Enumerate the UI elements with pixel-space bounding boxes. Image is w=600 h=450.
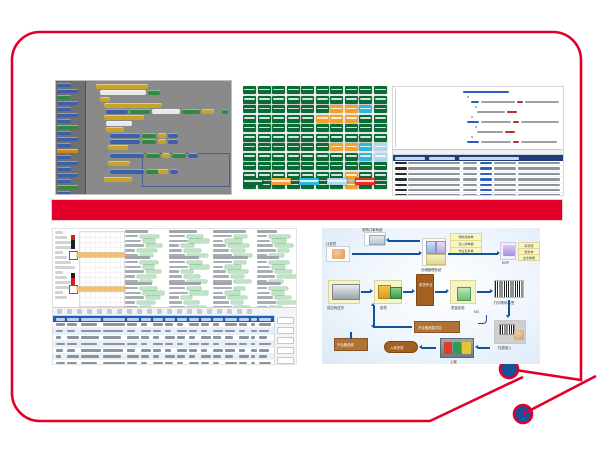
seat-cell-r4-c9[interactable] <box>359 115 372 123</box>
form-field-row[interactable] <box>125 244 165 247</box>
form-field-value[interactable] <box>231 275 244 278</box>
form-field-row[interactable] <box>125 287 165 290</box>
canvas-block-31[interactable] <box>158 169 168 174</box>
palette-block-13[interactable] <box>57 155 71 159</box>
canvas-block-28[interactable] <box>108 161 130 166</box>
seat-cell-r7-c5[interactable] <box>301 143 314 151</box>
table-toolbar-icon-10[interactable] <box>147 309 152 314</box>
canvas-block-6[interactable] <box>106 109 128 114</box>
palette-block-16[interactable] <box>57 173 78 177</box>
form-field-row[interactable] <box>169 270 209 273</box>
seat-cell-r3-c1[interactable] <box>243 105 256 113</box>
seat-cell-r2-c9[interactable] <box>359 96 372 104</box>
flow-node-label-scan[interactable] <box>494 320 526 344</box>
canvas-block-21[interactable] <box>168 139 178 144</box>
flow-node-supplier-delivery[interactable] <box>328 280 360 304</box>
seat-cell-r1-c1[interactable] <box>243 86 256 94</box>
table-column-header-15[interactable] <box>251 318 257 321</box>
form-field-value[interactable] <box>269 235 290 238</box>
form-field-row[interactable] <box>125 249 165 252</box>
table-column-header-10[interactable] <box>189 318 199 321</box>
form-field-value[interactable] <box>278 249 289 252</box>
form-field-row[interactable] <box>257 287 297 290</box>
palette-block-1[interactable] <box>57 83 71 87</box>
canvas-block-14[interactable] <box>110 133 140 138</box>
form-field-row[interactable] <box>125 239 165 242</box>
form-field-value[interactable] <box>146 270 161 273</box>
sheet-rail-item-6[interactable] <box>55 256 67 259</box>
form-field-row[interactable] <box>125 275 165 278</box>
form-field-value[interactable] <box>181 270 193 273</box>
seat-cell-r1-c3[interactable] <box>272 86 285 94</box>
flow-node-order-system[interactable] <box>364 232 386 246</box>
palette-block-11[interactable] <box>57 143 71 147</box>
palette-block-9[interactable] <box>57 131 71 135</box>
seat-cell-r5-c5[interactable] <box>301 124 314 132</box>
flow-node-planner[interactable] <box>326 246 350 262</box>
seat-cell-r7-c2[interactable] <box>258 143 271 151</box>
table-side-button-5[interactable] <box>277 357 294 364</box>
seat-cell-r1-c4[interactable] <box>287 86 300 94</box>
table-toolbar-icon-2[interactable] <box>67 309 72 314</box>
seat-cell-r7-c4[interactable] <box>287 143 300 151</box>
seat-cell-r3-c8[interactable] <box>345 105 358 113</box>
table-toolbar-icon-8[interactable] <box>127 309 132 314</box>
form-group-8[interactable] <box>257 256 297 285</box>
seat-cell-r6-c8[interactable] <box>345 134 358 142</box>
flow-node-shelving[interactable] <box>440 338 474 358</box>
seat-cell-r9-c8[interactable] <box>345 162 358 170</box>
seat-cell-r10-c10[interactable] <box>374 172 387 180</box>
form-field-value[interactable] <box>272 239 286 242</box>
table-column-header-5[interactable] <box>127 318 139 321</box>
form-field-row[interactable] <box>125 235 165 238</box>
seat-cell-r8-c3[interactable] <box>272 153 285 161</box>
form-field-value[interactable] <box>187 261 202 264</box>
seat-cell-r5-c1[interactable] <box>243 124 256 132</box>
seat-cell-r1-c10[interactable] <box>374 86 387 94</box>
palette-block-8[interactable] <box>57 125 78 129</box>
canvas-block-24[interactable] <box>146 153 160 158</box>
canvas-block-34[interactable] <box>222 109 228 114</box>
seat-cell-r6-c2[interactable] <box>258 134 271 142</box>
seat-cell-r7-c10[interactable] <box>374 143 387 151</box>
table-side-button-3[interactable] <box>277 337 294 344</box>
seat-cell-r6-c4[interactable] <box>287 134 300 142</box>
seat-cell-r5-c3[interactable] <box>272 124 285 132</box>
form-field-value[interactable] <box>181 296 192 299</box>
form-field-row[interactable] <box>169 291 209 294</box>
seat-cell-r11-c10[interactable] <box>374 181 387 189</box>
canvas-block-19[interactable] <box>142 139 156 144</box>
sheet-rail-item-14[interactable] <box>55 296 67 299</box>
sheet-rail-item-2[interactable] <box>55 236 67 239</box>
table-column-header-2[interactable] <box>67 318 79 321</box>
table-toolbar-icon-12[interactable] <box>167 309 172 314</box>
form-group-4[interactable] <box>257 230 297 259</box>
form-field-row[interactable] <box>125 265 165 268</box>
seat-cell-r4-c2[interactable] <box>258 115 271 123</box>
table-toolbar-icon-1[interactable] <box>57 309 62 314</box>
form-field-value[interactable] <box>190 291 208 294</box>
seat-cell-r8-c2[interactable] <box>258 153 271 161</box>
form-field-value[interactable] <box>272 291 284 294</box>
seat-cell-r7-c3[interactable] <box>272 143 285 151</box>
palette-block-3[interactable] <box>57 95 71 99</box>
form-field-row[interactable] <box>169 249 209 252</box>
canvas-block-8[interactable] <box>152 109 180 114</box>
seat-cell-r4-c6[interactable] <box>316 115 329 123</box>
seat-cell-r5-c4[interactable] <box>287 124 300 132</box>
form-field-value[interactable] <box>225 291 240 294</box>
seat-cell-r8-c8[interactable] <box>345 153 358 161</box>
seat-cell-r7-c6[interactable] <box>316 143 329 151</box>
table-toolbar-icon-6[interactable] <box>107 309 112 314</box>
form-field-row[interactable] <box>213 261 253 264</box>
palette-block-14[interactable] <box>57 161 78 165</box>
seat-cell-r5-c9[interactable] <box>359 124 372 132</box>
form-field-value[interactable] <box>187 235 203 238</box>
seat-cell-r5-c6[interactable] <box>316 124 329 132</box>
sheet-rail-item-8[interactable] <box>55 266 75 269</box>
form-field-row[interactable] <box>125 296 165 299</box>
table-toolbar-icon-5[interactable] <box>97 309 102 314</box>
form-field-value[interactable] <box>275 296 291 299</box>
sheet-upper-area[interactable] <box>53 229 296 307</box>
palette-block-18[interactable] <box>57 185 78 189</box>
form-field-row[interactable] <box>213 287 253 290</box>
form-field-value[interactable] <box>231 301 243 304</box>
form-field-value[interactable] <box>143 265 154 268</box>
table-toolbar-icon-9[interactable] <box>137 309 142 314</box>
form-group-5[interactable] <box>125 256 165 285</box>
seat-cell-r2-c5[interactable] <box>301 96 314 104</box>
table-column-header-9[interactable] <box>177 318 187 321</box>
sheet-rail-item-5[interactable] <box>55 251 63 254</box>
form-field-row[interactable] <box>257 244 297 247</box>
flow-node-wms[interactable] <box>422 238 446 266</box>
form-field-row[interactable] <box>257 270 297 273</box>
form-field-value[interactable] <box>184 249 201 252</box>
seat-cell-r1-c8[interactable] <box>345 86 358 94</box>
form-field-value[interactable] <box>277 301 297 304</box>
seat-cell-r9-c6[interactable] <box>316 162 329 170</box>
seat-cell-r4-c7[interactable] <box>330 115 343 123</box>
seat-cell-r8-c10[interactable] <box>374 153 387 161</box>
block-canvas[interactable] <box>86 81 231 194</box>
form-group-7[interactable] <box>213 256 253 285</box>
sheet-form-zone[interactable] <box>125 230 295 306</box>
seat-cell-r3-c10[interactable] <box>374 105 387 113</box>
canvas-block-4[interactable] <box>100 97 110 102</box>
form-field-row[interactable] <box>213 244 253 247</box>
form-field-row[interactable] <box>257 235 297 238</box>
seat-cell-r4-c1[interactable] <box>243 115 256 123</box>
seat-cell-r6-c5[interactable] <box>301 134 314 142</box>
log-col-header-1[interactable] <box>395 157 425 160</box>
seat-cell-r2-c1[interactable] <box>243 96 256 104</box>
seat-cell-r5-c2[interactable] <box>258 124 271 132</box>
seat-cell-r2-c8[interactable] <box>345 96 358 104</box>
seat-cell-r2-c3[interactable] <box>272 96 285 104</box>
seat-cell-r1-c7[interactable] <box>330 86 343 94</box>
sheet-rail-item-11[interactable] <box>55 281 71 284</box>
form-field-value[interactable] <box>137 301 155 304</box>
form-field-value[interactable] <box>225 239 242 242</box>
seat-cell-r3-c2[interactable] <box>258 105 271 113</box>
table-column-header-14[interactable] <box>239 318 249 321</box>
seat-cell-r9-c1[interactable] <box>243 162 256 170</box>
seat-cell-r9-c7[interactable] <box>330 162 343 170</box>
sheet-grid[interactable] <box>79 231 125 307</box>
form-field-value[interactable] <box>140 261 158 264</box>
palette-block-2[interactable] <box>57 89 78 93</box>
form-field-value[interactable] <box>275 244 293 247</box>
canvas-block-9[interactable] <box>182 109 200 114</box>
seat-cell-r4-c10[interactable] <box>374 115 387 123</box>
panel-spreadsheet[interactable] <box>52 228 297 365</box>
seat-cell-r3-c5[interactable] <box>301 105 314 113</box>
canvas-block-26[interactable] <box>172 153 186 158</box>
form-field-row[interactable] <box>169 296 209 299</box>
table-toolbar-icon-13[interactable] <box>177 309 182 314</box>
seat-cell-r9-c10[interactable] <box>374 162 387 170</box>
form-field-row[interactable] <box>169 275 209 278</box>
log-row[interactable] <box>393 193 563 196</box>
canvas-block-18[interactable] <box>110 139 140 144</box>
table-row[interactable] <box>53 360 296 365</box>
table-column-header-3[interactable] <box>81 318 101 321</box>
form-field-row[interactable] <box>169 244 209 247</box>
form-field-row[interactable] <box>169 261 209 264</box>
table-toolbar-icon-17[interactable] <box>217 309 222 314</box>
table-column-header-11[interactable] <box>201 318 211 321</box>
seat-cell-r5-c10[interactable] <box>374 124 387 132</box>
seat-cell-r9-c4[interactable] <box>287 162 300 170</box>
form-field-row[interactable] <box>213 301 253 304</box>
seat-cell-r6-c3[interactable] <box>272 134 285 142</box>
block-palette[interactable] <box>56 81 86 194</box>
seat-cell-r6-c7[interactable] <box>330 134 343 142</box>
seat-cell-r9-c9[interactable] <box>359 162 372 170</box>
form-field-row[interactable] <box>213 275 253 278</box>
sheet-rail-item-3[interactable] <box>55 241 71 244</box>
sheet-data-table[interactable] <box>53 307 296 365</box>
form-field-value[interactable] <box>272 265 285 268</box>
seat-cell-r6-c1[interactable] <box>243 134 256 142</box>
table-toolbar-icon-11[interactable] <box>157 309 162 314</box>
table-column-header-12[interactable] <box>213 318 223 321</box>
canvas-block-27[interactable] <box>188 153 198 158</box>
seat-cell-r2-c7[interactable] <box>330 96 343 104</box>
seat-cell-r8-c1[interactable] <box>243 153 256 161</box>
palette-block-7[interactable] <box>57 119 71 123</box>
canvas-block-10[interactable] <box>202 109 214 114</box>
table-toolbar[interactable] <box>53 308 296 316</box>
form-field-row[interactable] <box>257 249 297 252</box>
seat-cell-r8-c7[interactable] <box>330 153 343 161</box>
table-toolbar-icon-20[interactable] <box>247 309 252 314</box>
canvas-block-29[interactable] <box>110 169 144 174</box>
sheet-rail-item-10[interactable] <box>55 276 67 279</box>
canvas-block-7[interactable] <box>130 109 150 114</box>
seat-cell-r8-c9[interactable] <box>359 153 372 161</box>
form-field-value[interactable] <box>143 291 164 294</box>
form-field-row[interactable] <box>125 301 165 304</box>
seat-cell-r8-c6[interactable] <box>316 153 329 161</box>
form-group-3[interactable] <box>213 230 253 259</box>
seat-cell-r9-c2[interactable] <box>258 162 271 170</box>
panel-code-ide[interactable] <box>392 86 564 196</box>
form-field-value[interactable] <box>228 270 248 273</box>
log-col-header-3[interactable] <box>459 157 519 160</box>
canvas-block-3[interactable] <box>148 90 160 95</box>
seat-cell-r4-c8[interactable] <box>345 115 358 123</box>
canvas-block-12[interactable] <box>106 121 132 126</box>
table-side-button-4[interactable] <box>277 347 294 354</box>
sheet-rail-item-1[interactable] <box>55 231 63 234</box>
form-group-1[interactable] <box>125 230 165 259</box>
palette-block-15[interactable] <box>57 167 71 171</box>
form-field-value[interactable] <box>181 244 194 247</box>
table-toolbar-icon-7[interactable] <box>117 309 122 314</box>
form-field-value[interactable] <box>187 287 201 290</box>
flow-node-receiving-op[interactable] <box>416 274 434 306</box>
flow-node-unloading[interactable] <box>374 280 402 304</box>
form-group-2[interactable] <box>169 230 209 259</box>
form-group-6[interactable] <box>169 256 209 285</box>
seat-cell-r3-c9[interactable] <box>359 105 372 113</box>
form-field-value[interactable] <box>184 275 200 278</box>
canvas-block-16[interactable] <box>158 133 166 138</box>
form-field-value[interactable] <box>275 270 292 273</box>
form-field-value[interactable] <box>137 249 157 252</box>
form-field-value[interactable] <box>225 265 241 268</box>
seat-cell-r6-c6[interactable] <box>316 134 329 142</box>
canvas-block-1[interactable] <box>96 84 148 89</box>
sheet-rail-item-9[interactable] <box>55 271 63 274</box>
form-field-row[interactable] <box>257 275 297 278</box>
seat-cell-r1-c2[interactable] <box>258 86 271 94</box>
seat-cell-r3-c7[interactable] <box>330 105 343 113</box>
table-side-button-1[interactable] <box>277 317 294 324</box>
panel-block-editor[interactable] <box>55 80 232 195</box>
form-field-row[interactable] <box>213 291 253 294</box>
table-column-header-16[interactable] <box>259 318 271 321</box>
canvas-block-2[interactable] <box>100 90 146 95</box>
table-column-header-1[interactable] <box>56 318 65 321</box>
seat-cell-r7-c1[interactable] <box>243 143 256 151</box>
seat-cell-r7-c9[interactable] <box>359 143 372 151</box>
table-toolbar-icon-18[interactable] <box>227 309 232 314</box>
table-toolbar-icon-15[interactable] <box>197 309 202 314</box>
seat-cell-r5-c8[interactable] <box>345 124 358 132</box>
panel-seat-map[interactable] <box>243 86 388 198</box>
form-field-row[interactable] <box>169 265 209 268</box>
form-field-value[interactable] <box>184 301 199 304</box>
form-field-value[interactable] <box>146 244 162 247</box>
form-field-value[interactable] <box>269 261 289 264</box>
canvas-block-17[interactable] <box>168 133 178 138</box>
table-toolbar-icon-16[interactable] <box>207 309 212 314</box>
seat-cell-r2-c2[interactable] <box>258 96 271 104</box>
form-field-value[interactable] <box>190 265 209 268</box>
form-field-row[interactable] <box>125 270 165 273</box>
seat-cell-r1-c9[interactable] <box>359 86 372 94</box>
palette-block-12[interactable] <box>57 149 78 153</box>
table-column-header-4[interactable] <box>103 318 125 321</box>
canvas-block-32[interactable] <box>170 169 178 174</box>
form-field-row[interactable] <box>257 301 297 304</box>
form-field-row[interactable] <box>213 239 253 242</box>
form-field-row[interactable] <box>213 235 253 238</box>
form-field-value[interactable] <box>228 296 247 299</box>
seat-cell-r9-c3[interactable] <box>272 162 285 170</box>
form-field-row[interactable] <box>213 265 253 268</box>
table-toolbar-icon-3[interactable] <box>77 309 82 314</box>
seat-cell-r8-c5[interactable] <box>301 153 314 161</box>
flow-node-barcode-print[interactable] <box>494 280 524 298</box>
form-field-row[interactable] <box>125 291 165 294</box>
table-column-header-8[interactable] <box>165 318 175 321</box>
form-field-value[interactable] <box>231 249 245 252</box>
form-field-value[interactable] <box>140 235 159 238</box>
canvas-block-23[interactable] <box>110 153 144 158</box>
seat-cell-r8-c4[interactable] <box>287 153 300 161</box>
table-column-header-6[interactable] <box>141 318 151 321</box>
table-toolbar-icon-19[interactable] <box>237 309 242 314</box>
log-console[interactable] <box>393 149 563 196</box>
seat-grid[interactable] <box>243 86 387 189</box>
form-field-value[interactable] <box>234 287 245 290</box>
seat-cell-r2-c6[interactable] <box>316 96 329 104</box>
form-field-row[interactable] <box>169 239 209 242</box>
panel-flow-diagram[interactable]: 采购订单系统 计划员 仓储管理系统 ERP 物料验收单 出入库单据 作业任务单 … <box>322 228 540 364</box>
palette-block-19[interactable] <box>57 191 71 195</box>
form-field-row[interactable] <box>257 296 297 299</box>
flow-node-erp[interactable] <box>500 242 516 260</box>
seat-cell-r6-c9[interactable] <box>359 134 372 142</box>
table-side-buttons[interactable] <box>274 315 296 365</box>
seat-cell-r3-c6[interactable] <box>316 105 329 113</box>
form-field-value[interactable] <box>228 244 249 247</box>
seat-cell-r7-c8[interactable] <box>345 143 358 151</box>
form-field-value[interactable] <box>146 296 160 299</box>
form-field-row[interactable] <box>213 270 253 273</box>
seat-cell-r2-c4[interactable] <box>287 96 300 104</box>
form-field-value[interactable] <box>137 275 156 278</box>
seat-cell-r3-c3[interactable] <box>272 105 285 113</box>
form-field-value[interactable] <box>234 235 247 238</box>
seat-cell-r4-c3[interactable] <box>272 115 285 123</box>
seat-cell-r5-c7[interactable] <box>330 124 343 132</box>
seat-cell-r6-c10[interactable] <box>374 134 387 142</box>
palette-block-4[interactable] <box>57 101 78 105</box>
sheet-gantt-bar-1[interactable] <box>77 253 125 257</box>
table-toolbar-icon-14[interactable] <box>187 309 192 314</box>
table-column-header-7[interactable] <box>153 318 163 321</box>
table-column-header-13[interactable] <box>225 318 237 321</box>
form-field-value[interactable] <box>277 275 297 278</box>
canvas-block-5[interactable] <box>104 103 162 108</box>
code-editor[interactable] <box>393 87 563 149</box>
table-body[interactable] <box>53 322 296 365</box>
palette-block-10[interactable] <box>57 137 78 141</box>
form-field-value[interactable] <box>269 287 288 290</box>
palette-block-17[interactable] <box>57 179 71 183</box>
form-field-row[interactable] <box>125 261 165 264</box>
log-row-list[interactable] <box>393 161 563 196</box>
